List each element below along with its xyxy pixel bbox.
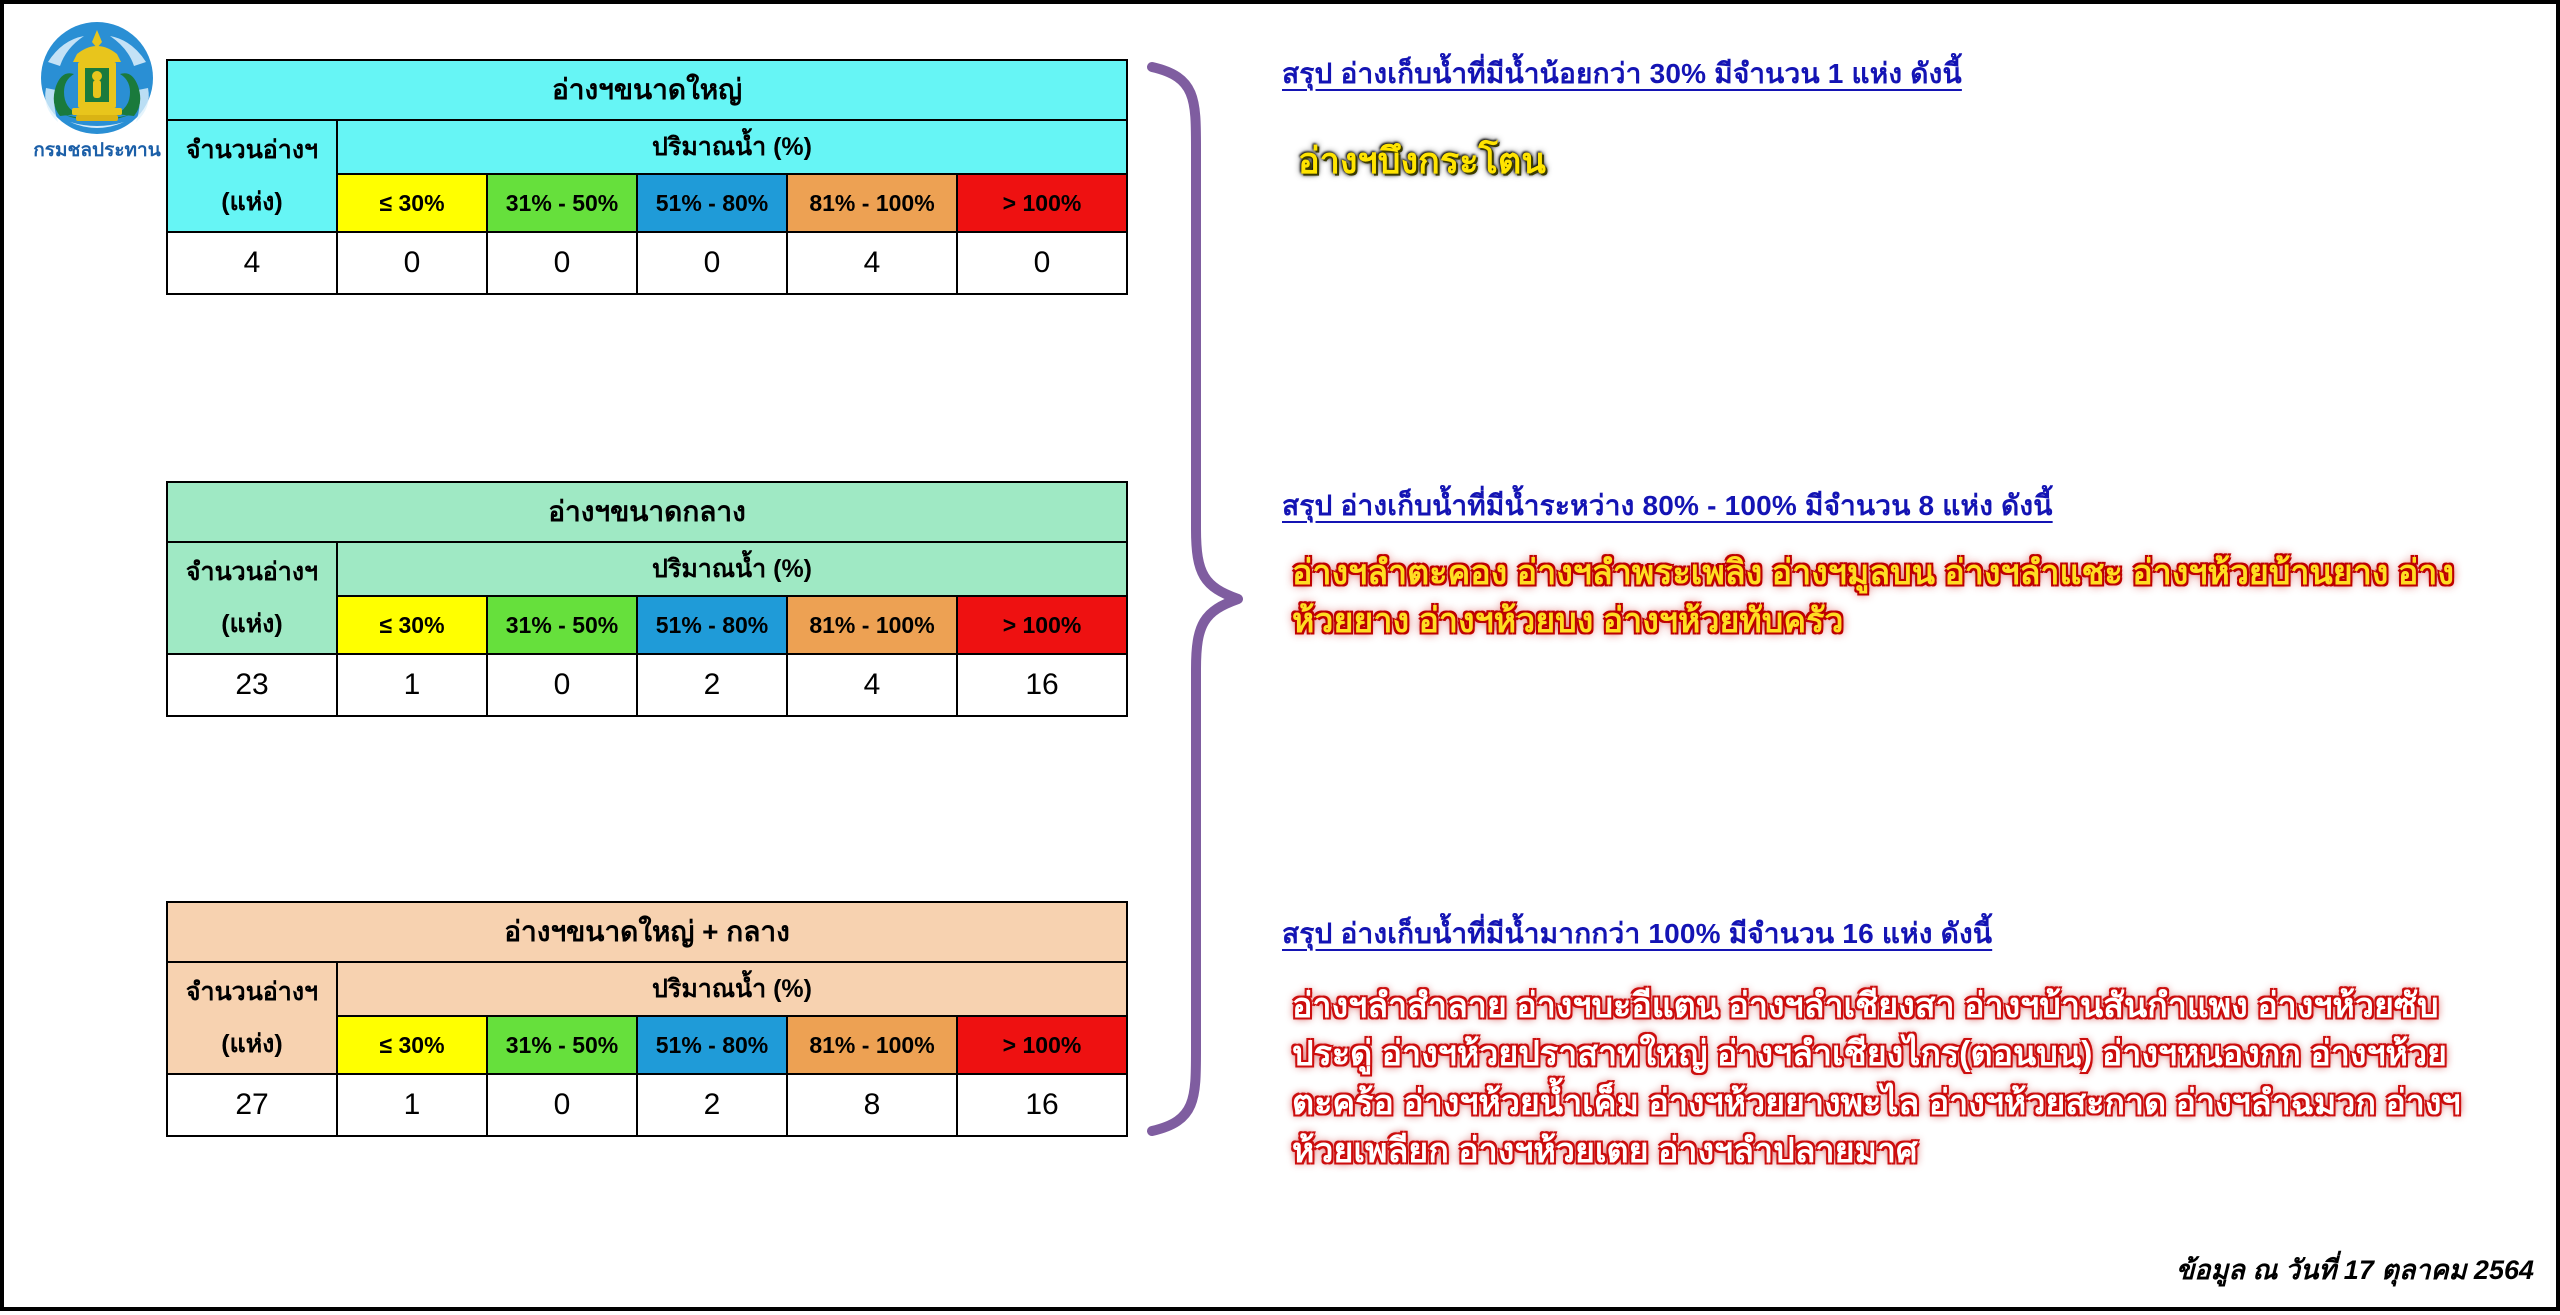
band-value-2: 2 xyxy=(637,1074,787,1136)
band-value-0: 1 xyxy=(337,654,487,716)
band-label-0: ≤ 30% xyxy=(337,596,487,654)
band-label-4: > 100% xyxy=(957,174,1127,232)
count-column-header: จำนวนอ่างฯ (แห่ง) xyxy=(167,962,337,1074)
count-label-line1: จำนวนอ่างฯ xyxy=(168,130,336,170)
slide-canvas: กรมชลประทาน อ่างฯขนาดใหญ่ จำนวนอ่างฯ (แห… xyxy=(0,0,2560,1311)
summary-list-over: อ่างฯลำสำลาย อ่างฯบะอีแตน อ่างฯลำเชียงสา… xyxy=(1292,982,2492,1175)
table-row: จำนวนอ่างฯ (แห่ง) ปริมาณน้ำ (%) xyxy=(167,120,1127,174)
band-label-3: 81% - 100% xyxy=(787,1016,957,1074)
curly-brace-connector xyxy=(1134,59,1254,1139)
table-reservoir-medium: อ่างฯขนาดกลาง จำนวนอ่างฯ (แห่ง) ปริมาณน้… xyxy=(166,481,1128,717)
band-value-3: 8 xyxy=(787,1074,957,1136)
band-label-2: 51% - 80% xyxy=(637,1016,787,1074)
band-label-3: 81% - 100% xyxy=(787,596,957,654)
band-label-1: 31% - 50% xyxy=(487,1016,637,1074)
band-value-2: 2 xyxy=(637,654,787,716)
summary-heading-between: สรุป อ่างเก็บน้ำที่มีน้ำระหว่าง 80% - 10… xyxy=(1282,484,2053,528)
band-value-0: 0 xyxy=(337,232,487,294)
table-row: อ่างฯขนาดใหญ่ xyxy=(167,60,1127,120)
count-label-line1: จำนวนอ่างฯ xyxy=(168,552,336,592)
table-title: อ่างฯขนาดใหญ่ + กลาง xyxy=(167,902,1127,962)
band-label-1: 31% - 50% xyxy=(487,174,637,232)
band-value-4: 16 xyxy=(957,654,1127,716)
count-label-line2: (แห่ง) xyxy=(168,604,336,644)
total-count-value: 23 xyxy=(167,654,337,716)
summary-list-between: อ่างฯลำตะคอง อ่างฯลำพระเพลิง อ่างฯมูลบน … xyxy=(1292,549,2492,646)
summary-panel: สรุป อ่างเก็บน้ำที่มีน้ำน้อยกว่า 30% มีจ… xyxy=(1274,4,2554,1315)
band-label-3: 81% - 100% xyxy=(787,174,957,232)
count-label-line2: (แห่ง) xyxy=(168,182,336,222)
table-row: 4 0 0 0 4 0 xyxy=(167,232,1127,294)
band-value-4: 16 xyxy=(957,1074,1127,1136)
band-value-2: 0 xyxy=(637,232,787,294)
summary-list-low: อ่างฯบึงกระโตน xyxy=(1298,132,1546,189)
table-title: อ่างฯขนาดใหญ่ xyxy=(167,60,1127,120)
total-count-value: 27 xyxy=(167,1074,337,1136)
count-column-header: จำนวนอ่างฯ (แห่ง) xyxy=(167,542,337,654)
count-label-line1: จำนวนอ่างฯ xyxy=(168,972,336,1012)
logo-caption: กรมชลประทาน xyxy=(33,140,160,161)
royal-irrigation-department-emblem: กรมชลประทาน xyxy=(22,14,172,169)
table-reservoir-large-plus-medium: อ่างฯขนาดใหญ่ + กลาง จำนวนอ่างฯ (แห่ง) ป… xyxy=(166,901,1128,1137)
table-row: อ่างฯขนาดใหญ่ + กลาง xyxy=(167,902,1127,962)
table-title: อ่างฯขนาดกลาง xyxy=(167,482,1127,542)
count-column-header: จำนวนอ่างฯ (แห่ง) xyxy=(167,120,337,232)
total-count-value: 4 xyxy=(167,232,337,294)
band-label-0: ≤ 30% xyxy=(337,174,487,232)
summary-heading-over: สรุป อ่างเก็บน้ำที่มีน้ำมากกว่า 100% มีจ… xyxy=(1282,912,1992,956)
summary-heading-low: สรุป อ่างเก็บน้ำที่มีน้ำน้อยกว่า 30% มีจ… xyxy=(1282,52,1962,96)
band-value-1: 0 xyxy=(487,1074,637,1136)
count-label-line2: (แห่ง) xyxy=(168,1024,336,1064)
volume-column-header: ปริมาณน้ำ (%) xyxy=(337,962,1127,1016)
band-label-4: > 100% xyxy=(957,596,1127,654)
table-row: 23 1 0 2 4 16 xyxy=(167,654,1127,716)
band-value-3: 4 xyxy=(787,654,957,716)
table-row: จำนวนอ่างฯ (แห่ง) ปริมาณน้ำ (%) xyxy=(167,962,1127,1016)
band-value-4: 0 xyxy=(957,232,1127,294)
band-value-1: 0 xyxy=(487,654,637,716)
band-label-2: 51% - 80% xyxy=(637,174,787,232)
band-label-4: > 100% xyxy=(957,1016,1127,1074)
data-as-of-date: ข้อมูล ณ วันที่ 17 ตุลาคม 2564 xyxy=(2176,1248,2534,1291)
table-reservoir-large: อ่างฯขนาดใหญ่ จำนวนอ่างฯ (แห่ง) ปริมาณน้… xyxy=(166,59,1128,295)
band-value-0: 1 xyxy=(337,1074,487,1136)
table-row: 27 1 0 2 8 16 xyxy=(167,1074,1127,1136)
band-label-1: 31% - 50% xyxy=(487,596,637,654)
band-label-2: 51% - 80% xyxy=(637,596,787,654)
band-value-3: 4 xyxy=(787,232,957,294)
table-row: อ่างฯขนาดกลาง xyxy=(167,482,1127,542)
volume-column-header: ปริมาณน้ำ (%) xyxy=(337,120,1127,174)
band-label-0: ≤ 30% xyxy=(337,1016,487,1074)
band-value-1: 0 xyxy=(487,232,637,294)
volume-column-header: ปริมาณน้ำ (%) xyxy=(337,542,1127,596)
table-row: จำนวนอ่างฯ (แห่ง) ปริมาณน้ำ (%) xyxy=(167,542,1127,596)
